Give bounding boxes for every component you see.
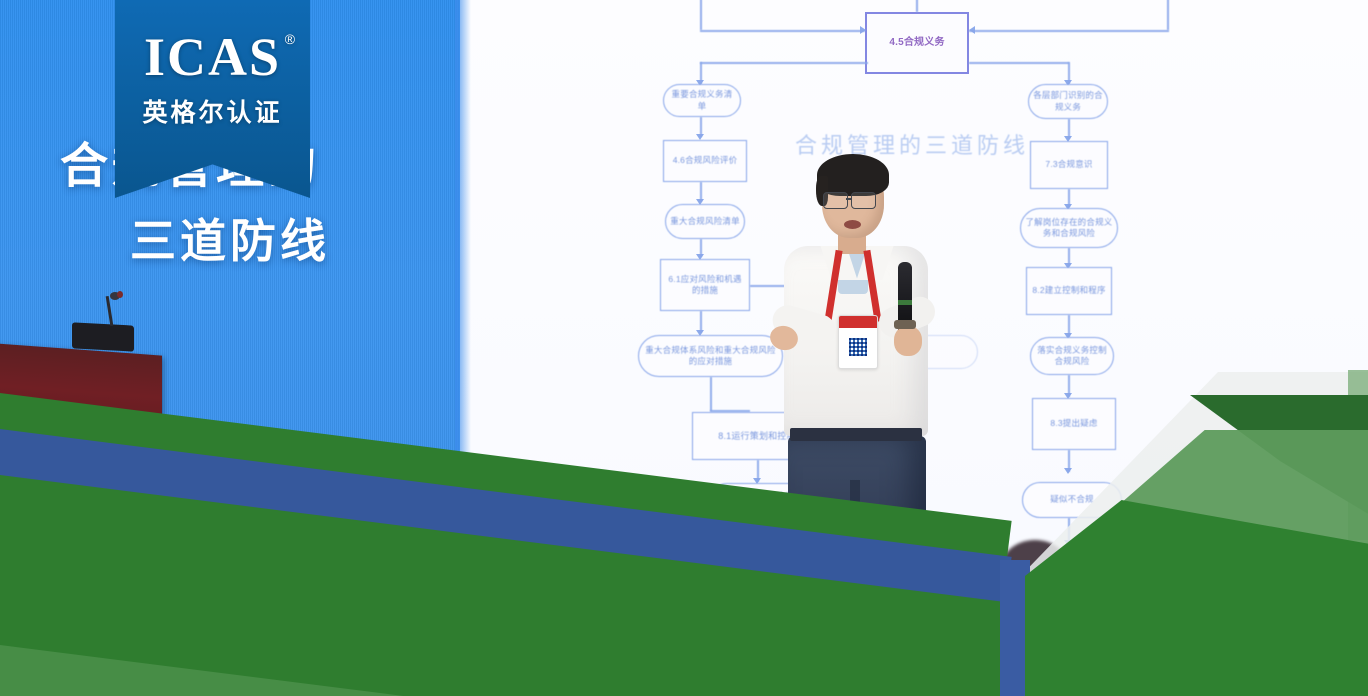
glasses-icon bbox=[851, 192, 876, 209]
connector bbox=[700, 30, 865, 32]
connector bbox=[1167, 0, 1169, 30]
badge-header-band bbox=[839, 316, 877, 328]
registered-trademark-icon: ® bbox=[285, 32, 297, 46]
wall-title-line-2: 三道防线 bbox=[130, 205, 460, 271]
connector bbox=[710, 377, 712, 411]
flow-node-right-3: 了解岗位存在的合规义务和合规风险 bbox=[1020, 208, 1118, 248]
flow-node-right-5: 落实合规义务控制合规风险 bbox=[1030, 337, 1114, 375]
arrow-icon bbox=[860, 26, 866, 34]
qr-code-icon bbox=[849, 338, 867, 356]
connector bbox=[700, 62, 868, 64]
podium-equipment bbox=[72, 322, 134, 351]
flow-node-left-2: 4.6合规风险评价 bbox=[663, 140, 747, 182]
presentation-photo: 合规管理的 三道防线 ICAS ® 英格尔认证 合规管理的三道防线 4.5合规义… bbox=[0, 0, 1368, 696]
flow-node-left-4: 6.1应对风险和机遇的措施 bbox=[660, 259, 750, 311]
presenter-mouth bbox=[844, 220, 861, 229]
connector bbox=[969, 62, 1069, 64]
connector bbox=[969, 30, 1169, 32]
glasses-icon bbox=[823, 192, 848, 209]
icas-wordmark-text: ICAS bbox=[144, 27, 281, 87]
microphone-tip-icon bbox=[117, 291, 123, 298]
wristwatch-icon bbox=[894, 320, 916, 329]
flow-node-right-2: 7.3合规意识 bbox=[1030, 141, 1108, 189]
flow-node-right-6: 8.3提出疑虑 bbox=[1032, 398, 1116, 450]
flow-node-left-1: 重要合规义务清单 bbox=[663, 84, 741, 117]
attendee-badge bbox=[838, 315, 878, 369]
presenter-belt bbox=[790, 428, 922, 441]
arrow-icon bbox=[1064, 468, 1072, 474]
connector bbox=[700, 0, 702, 30]
flow-node-left-5: 重大合规体系风险和重大合规风险的应对措施 bbox=[638, 335, 783, 377]
icas-chinese-name: 英格尔认证 bbox=[142, 93, 282, 129]
arrow-icon bbox=[969, 26, 975, 34]
flow-node-center: 4.5合规义务 bbox=[865, 12, 969, 74]
connector bbox=[916, 0, 918, 12]
flow-node-right-4: 8.2建立控制和程序 bbox=[1026, 267, 1112, 315]
flow-node-right-1: 各层部门识别的合规义务 bbox=[1028, 84, 1108, 119]
microphone-band bbox=[898, 300, 912, 305]
icas-wordmark: ICAS ® bbox=[144, 30, 281, 84]
presenter-hand-right bbox=[894, 326, 922, 356]
glasses-bridge-icon bbox=[846, 198, 851, 200]
flow-node-left-3: 重大合规风险清单 bbox=[665, 204, 745, 239]
